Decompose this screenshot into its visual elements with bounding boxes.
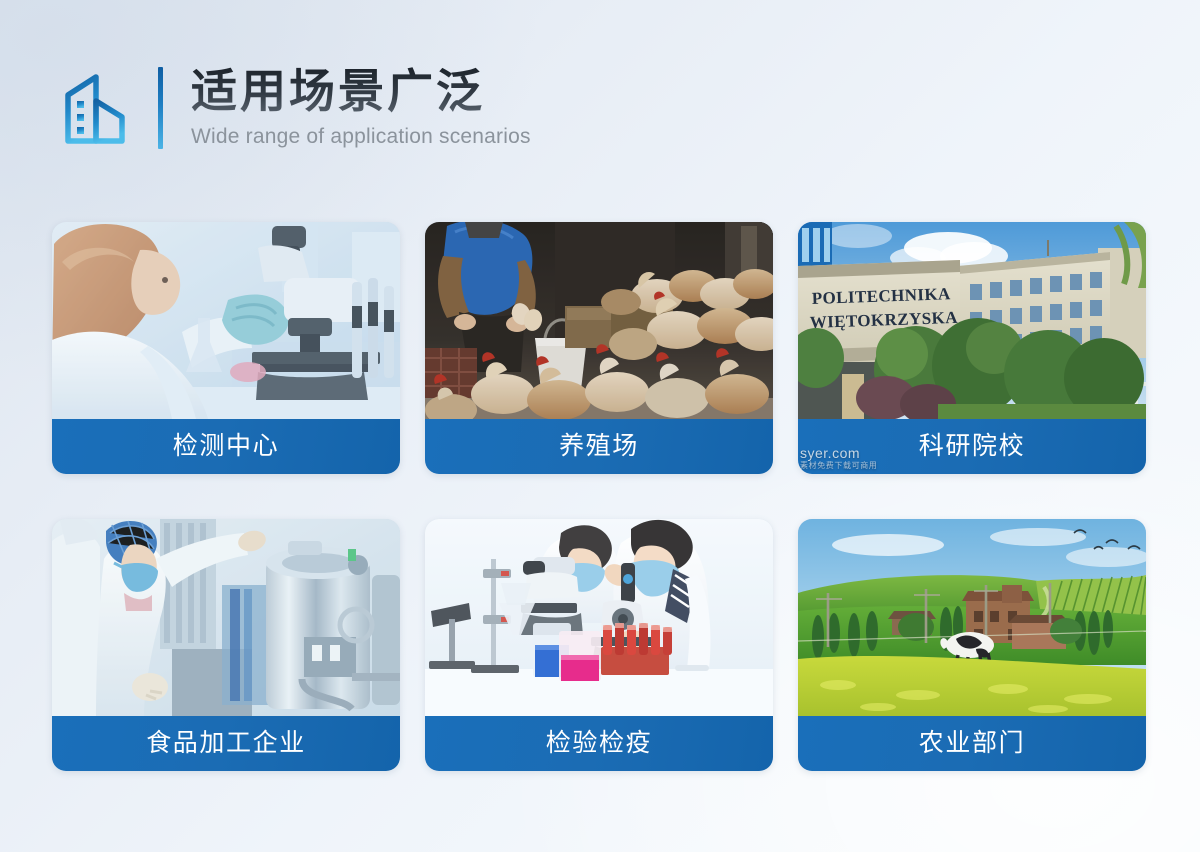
poultry-farm-photo	[425, 222, 773, 419]
laboratory-testing-photo	[425, 519, 773, 716]
watermark-text: syer.com	[800, 445, 860, 461]
application-scenarios-page: 适用场景广泛 Wide range of application scenari…	[0, 0, 1200, 852]
farmland-countryside-photo	[798, 519, 1146, 716]
scenario-card-label-text: 养殖场	[559, 434, 639, 459]
scientist-at-microscope-photo	[52, 222, 400, 419]
scenario-card[interactable]: 养殖场	[425, 222, 773, 474]
scenario-card-label: 农业部门	[798, 716, 1146, 771]
image-watermark: syer.com 素材免费下载可商用	[800, 445, 877, 470]
university-campus-photo: POLITECHNIKA WIĘTOKRZYSKA	[798, 222, 1146, 419]
scenario-card-label: 检测中心	[52, 419, 400, 474]
section-header: 适用场景广泛 Wide range of application scenari…	[62, 58, 531, 158]
building-icon	[62, 71, 128, 145]
scenario-card[interactable]: 食品加工企业	[52, 519, 400, 771]
page-subtitle: Wide range of application scenarios	[191, 125, 531, 149]
header-text-block: 适用场景广泛 Wide range of application scenari…	[191, 67, 531, 148]
scenario-card-label: 检验检疫	[425, 716, 773, 771]
scenario-card[interactable]: 农业部门	[798, 519, 1146, 771]
food-processing-plant-photo	[52, 519, 400, 716]
watermark-subtext: 素材免费下载可商用	[800, 461, 877, 470]
scenario-card-label-text: 农业部门	[919, 731, 1025, 756]
scenario-card[interactable]: 检测中心	[52, 222, 400, 474]
scenario-card-label-text: 检测中心	[173, 434, 279, 459]
scenario-card[interactable]: 检验检疫	[425, 519, 773, 771]
scenario-card-grid: 检测中心	[52, 222, 1148, 771]
scenario-card-label: 食品加工企业	[52, 716, 400, 771]
scenario-card-label-text: 食品加工企业	[146, 731, 306, 756]
scenario-card[interactable]: POLITECHNIKA WIĘTOKRZYSKA	[798, 222, 1146, 474]
scenario-card-label-text: 科研院校	[919, 434, 1025, 459]
scenario-card-label-text: 检验检疫	[546, 731, 652, 756]
scenario-card-label: 养殖场	[425, 419, 773, 474]
header-divider	[158, 67, 163, 149]
page-title: 适用场景广泛	[191, 67, 531, 115]
